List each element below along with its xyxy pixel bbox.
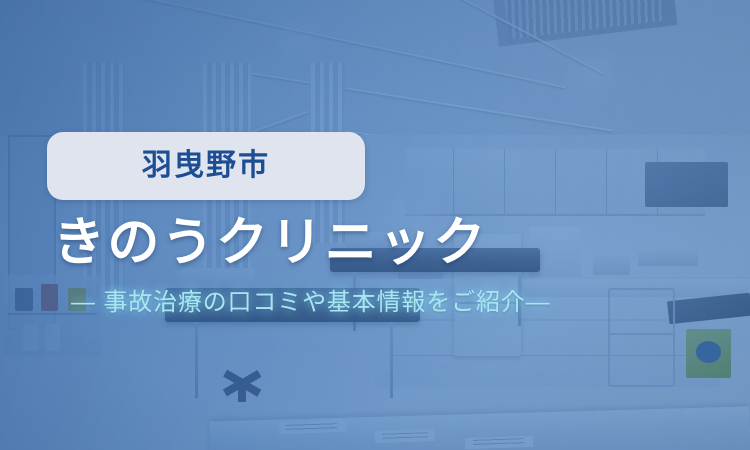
clinic-hero-banner: 羽曳野市 きのうクリニック ― 事故治療の口コミや基本情報をご紹介― <box>0 0 750 450</box>
banner-tagline: ― 事故治療の口コミや基本情報をご紹介― <box>71 289 550 318</box>
city-badge: 羽曳野市 <box>47 132 365 200</box>
clinic-name-title: きのうクリニック <box>53 214 488 272</box>
city-badge-label: 羽曳野市 <box>142 151 270 181</box>
banner-content: 羽曳野市 きのうクリニック ― 事故治療の口コミや基本情報をご紹介― <box>0 0 750 450</box>
